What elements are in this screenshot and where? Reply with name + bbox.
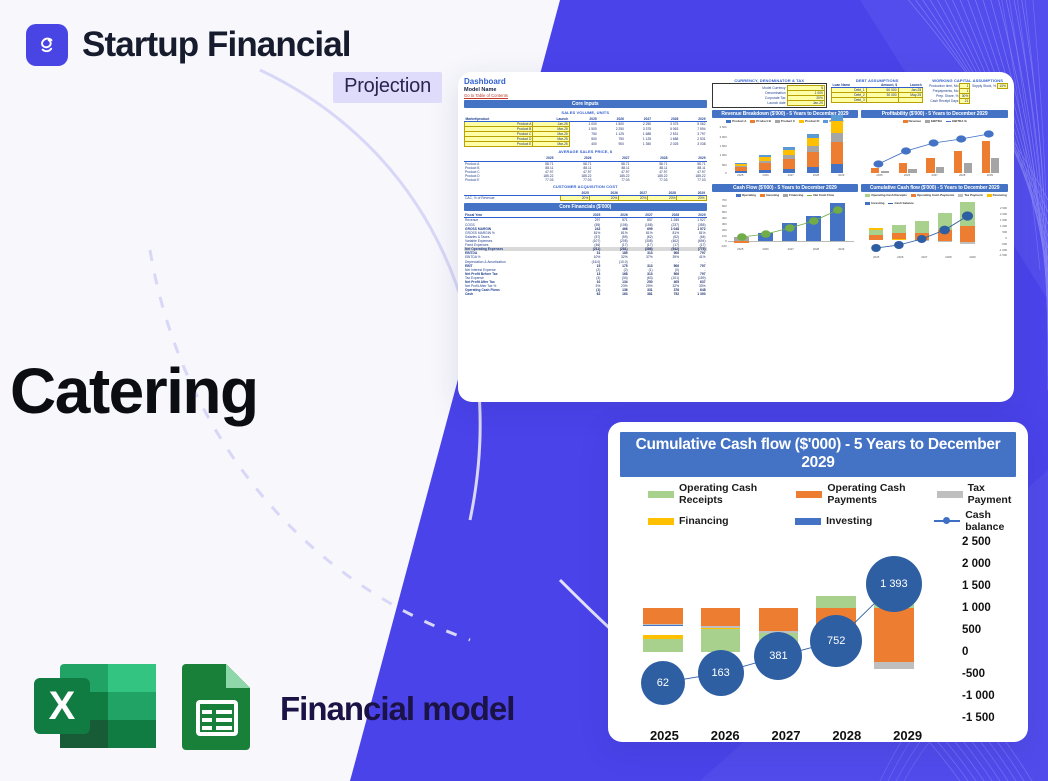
legend-label: Tax Payment (968, 482, 1014, 506)
cell[interactable]: 21 (960, 99, 970, 104)
bar (831, 115, 842, 173)
legend-label: Operating Cash Payments (827, 482, 936, 506)
x-tick: 2025 (728, 247, 753, 256)
x-tick: 2027 (912, 255, 936, 264)
table-row: CAC, % of Revenue 20% 20% 20% 20% 20% (464, 196, 706, 201)
page-title: Startup Financial (82, 27, 351, 64)
chart-title: Profitability ($'000) - 5 Years to Decem… (861, 110, 1008, 118)
legend-label: Revenue (909, 119, 922, 123)
cash-balance-line (864, 206, 984, 255)
microsoft-excel-icon: X (32, 660, 160, 757)
cell[interactable]: Debt_3 (831, 98, 866, 103)
legend-row: Operating Cash Receipts Operating Cash P… (648, 482, 1014, 506)
legend-label: Financing (679, 515, 729, 527)
cell: 77.03 (554, 178, 592, 182)
y-tick: 2 500 (962, 536, 991, 548)
chart-title: Cumulative Cash flow ($'000) - 5 Years t… (861, 184, 1008, 192)
legend-label: Product D (805, 119, 819, 123)
cell: Product E (464, 178, 516, 182)
legend-item: Investing (865, 201, 884, 205)
legend-label: Financing (993, 193, 1007, 197)
chart-canvas: 2 500 2 000 1 500 1 000 500 0 -500 -1 00… (861, 206, 1008, 264)
legend-label: Investing (871, 201, 884, 205)
bar (982, 141, 990, 173)
legend-item: Operating (736, 193, 756, 197)
y-tick: -500 (962, 668, 985, 680)
category-title: Catering (10, 354, 258, 428)
y-tick: 300 (722, 222, 727, 226)
plot (728, 124, 854, 173)
legend-item: Tax Payment (958, 193, 982, 197)
swirl-e-logo-icon (26, 24, 68, 66)
bar (991, 158, 999, 173)
cell[interactable]: Jan-25 (787, 101, 824, 106)
y-tick: 600 (722, 204, 727, 208)
y-tick: 100 (722, 234, 727, 238)
legend-item: Investing (760, 193, 779, 197)
svg-text:X: X (49, 684, 76, 728)
cell: 3 038 (679, 142, 706, 147)
avg-price-table: 2025 2026 2027 2028 2029 Product A 58.71… (464, 156, 707, 182)
legend-label: Product A (732, 119, 746, 123)
x-tick: 2029 (829, 247, 854, 256)
dashboard-heading-block: Dashboard Model Name Go to Table of Cont… (464, 78, 707, 98)
y-tick: 0 (962, 646, 968, 658)
sheets-glyph (180, 660, 254, 752)
x-tick: 2028 (803, 173, 828, 182)
table-row: Production time, Mo 1 Supply Stock, % 10… (927, 84, 1007, 89)
plot (728, 198, 854, 247)
assumption-panels: CURRENCY, DENOMINATOR & TAX Model Curren… (712, 78, 1008, 108)
cell: 900 (598, 142, 625, 147)
x-axis: 2025 2026 2027 2028 2029 (866, 173, 1004, 182)
dashboard-right-column: CURRENCY, DENOMINATOR & TAX Model Curren… (712, 78, 1008, 396)
legend-item-operating-cash-receipts: Operating Cash Receipts (648, 482, 796, 506)
cell: Cash (464, 292, 574, 296)
legend-label: Operating Cash Payments (917, 193, 954, 197)
bar (954, 151, 962, 173)
legend-label: Product B (756, 119, 770, 123)
x-tick: 2026 (893, 173, 921, 182)
plot (864, 206, 984, 255)
cell: 1 350 (625, 142, 652, 147)
cell: 381 (629, 292, 654, 296)
cell: 163 (601, 292, 628, 296)
cell: Supply Stock, % (970, 84, 998, 89)
x-tick: 2028 (936, 255, 960, 264)
dashboard-left-column: Dashboard Model Name Go to Table of Cont… (464, 78, 707, 396)
legend-label: Operating Cash Receipts (679, 482, 796, 506)
cell: Prepayments, Mo (927, 89, 960, 94)
y-tick: -500 (1001, 242, 1007, 246)
y-tick: 500 (722, 210, 727, 214)
cac-table: 2025 2026 2027 2028 2029 CAC, % of Reven… (464, 191, 707, 201)
currency-table: Model Currency $ Denomination 1 000 Corp… (714, 85, 825, 106)
core-financials-table: Fiscal Year 2025 2026 2027 2028 2029 Rev… (464, 213, 707, 296)
google-sheets-icon (180, 660, 254, 757)
net-cash-flow-line (728, 198, 854, 247)
cumulative-cash-flow-mini-chart[interactable]: Cumulative Cash flow ($'000) - 5 Years t… (861, 184, 1008, 264)
brand-row: Startup Financial (26, 24, 446, 66)
chart-canvas: 2025 2026 2027 2028 2029 (861, 124, 1008, 182)
legend-item: Net Cash Flow (807, 193, 834, 197)
y-tick: 2 500 (1000, 206, 1007, 210)
x-axis: 2025 2026 2027 2028 2029 (634, 720, 938, 742)
chart-legend: Operating Cash Receipts Operating Cash P… (861, 192, 1008, 206)
data-node-2028[interactable]: 752 (810, 615, 862, 667)
table-row: Cash Receipt Days 21 (927, 99, 1007, 104)
y-tick: 0 (725, 239, 727, 243)
brand-header: Startup Financial Projection (26, 24, 446, 103)
legend-label: Cash balance (965, 509, 1014, 533)
legend-label: Investing (766, 193, 779, 197)
x-tick: 2027 (921, 173, 949, 182)
sales-volume-table: Market/product Launch 2025 2026 2027 202… (464, 117, 707, 148)
chart-plot-area: 62 163 381 752 1 393 2 500 2 000 1 500 1… (620, 542, 1016, 742)
cell: 752 (654, 292, 680, 296)
data-node-2027[interactable]: 381 (754, 632, 802, 680)
x-tick: 2026 (695, 728, 756, 743)
x-tick: 2029 (960, 255, 984, 264)
chart-title: Cash Flow ($'000) - 5 Years to December … (712, 184, 859, 192)
cell: 2 025 (652, 142, 679, 147)
legend-item: Product A (726, 119, 746, 123)
chart-canvas: 700 600 500 400 300 200 100 0 -100 (712, 198, 859, 256)
legend-item: EBITDA % (946, 119, 967, 123)
bar (964, 163, 972, 173)
x-tick: 2027 (778, 247, 803, 256)
x-axis: 2025 2026 2027 2028 2029 (728, 247, 854, 256)
x-tick: 2025 (728, 173, 753, 182)
legend-item: Product C (775, 119, 795, 123)
cell: Cash Receipt Days (927, 99, 960, 104)
y-tick: 1 000 (962, 602, 991, 614)
y-tick: 2 000 (962, 558, 991, 570)
legend-item: Revenue (903, 119, 922, 123)
table-row: Debt_3 (831, 98, 922, 103)
mini-charts-row-1: Revenue Breakdown ($'000) - 5 Years to D… (712, 110, 1008, 182)
profitability-chart[interactable]: Profitability ($'000) - 5 Years to Decem… (861, 110, 1008, 182)
y-tick: 1 500 (720, 144, 727, 148)
cell: 20% (677, 196, 706, 201)
cell: Product E (465, 142, 533, 147)
cash-flow-chart[interactable]: Cash Flow ($'000) - 5 Years to December … (712, 184, 859, 264)
cell: 77.03 (516, 178, 554, 182)
table-row: Product E 77.03 77.03 77.03 77.03 77.03 (464, 178, 707, 182)
y-tick: 1 000 (720, 153, 727, 157)
y-tick: 200 (722, 228, 727, 232)
cell: 20% (561, 196, 590, 201)
cell: Launch date (714, 101, 788, 106)
x-tick: 2026 (888, 255, 912, 264)
legend-label: EBITDA (931, 119, 942, 123)
legend-item: Operating Cash Payments (911, 193, 954, 197)
legend-item-financing: Financing (648, 509, 795, 533)
legend-row: Financing Investing Cash balance (648, 509, 1014, 533)
cell: 77.03 (592, 178, 630, 182)
y-axis: 700 600 500 400 300 200 100 0 -100 (712, 198, 728, 247)
y-tick: 2 000 (1000, 212, 1007, 216)
chart-canvas: 2 500 2 000 1 500 1 000 500 0 (712, 124, 859, 182)
x-tick: 2029 (829, 173, 854, 182)
legend-label: Operating Cash Receipts (871, 193, 907, 197)
table-row: Launch date Jan-25 (714, 101, 825, 106)
cell: 1 393 (680, 292, 706, 296)
legend-item: Product B (750, 119, 770, 123)
y-tick: 400 (722, 216, 727, 220)
legend-item: Financing (783, 193, 803, 197)
legend-label: Product C (781, 119, 795, 123)
x-tick: 2025 (864, 255, 888, 264)
data-node-2025[interactable]: 62 (641, 661, 685, 705)
debt-panel: DEBT ASSUMPTIONS Loan Name Amount, $ Lau… (831, 78, 923, 103)
x-tick: 2025 (866, 173, 894, 182)
x-tick: 2025 (634, 728, 695, 743)
core-inputs-band: Core Inputs (464, 100, 707, 108)
cell: 400 (569, 142, 598, 147)
y-tick: 1 500 (962, 580, 991, 592)
currency-box: Model Currency $ Denomination 1 000 Corp… (712, 83, 827, 108)
legend-item-operating-cash-payments: Operating Cash Payments (796, 482, 936, 506)
y-axis: 2 500 2 000 1 500 1 000 500 0 -500 -1 00… (940, 542, 1012, 718)
x-axis: 2025 2026 2027 2028 2029 (864, 255, 984, 264)
brand-subtitle-wrap: Projection (26, 72, 446, 103)
bar (783, 147, 794, 173)
sales-volume-caption: SALES VOLUME, UNITS (464, 110, 707, 115)
legend-label: Operating (742, 193, 756, 197)
y-tick: 2 500 (720, 125, 727, 129)
plot: 62 163 381 752 1 393 (634, 542, 938, 718)
format-badges: X Financial model (32, 660, 514, 757)
legend-label: Net Cash Flow (813, 193, 834, 197)
x-tick: 2026 (753, 173, 778, 182)
cell: 20% (590, 196, 619, 201)
format-label: Financial model (280, 690, 514, 728)
cell: Mar-25 (533, 142, 569, 147)
legend-label: Investing (826, 515, 872, 527)
core-financials-band: Core Financials ($'000) (464, 203, 707, 211)
chart-title: Cumulative Cash flow ($'000) - 5 Years t… (620, 432, 1016, 477)
y-tick: -100 (721, 244, 727, 248)
legend-label: Financing (789, 193, 803, 197)
legend-item: EBITDA (925, 119, 942, 123)
cell: Production time, Mo (927, 84, 960, 89)
dashboard-heading: Dashboard (464, 78, 707, 87)
table-row: Cash621633817521 393 (464, 292, 707, 296)
plot (866, 124, 1004, 173)
x-tick: 2027 (778, 173, 803, 182)
revenue-breakdown-chart[interactable]: Revenue Breakdown ($'000) - 5 Years to D… (712, 110, 859, 182)
legend-item: Product D (799, 119, 819, 123)
cell: CAC, % of Revenue (464, 196, 561, 201)
legend-label: Cash balance (894, 201, 913, 205)
cumulative-cash-flow-card[interactable]: Cumulative Cash flow ($'000) - 5 Years t… (608, 422, 1028, 742)
chart-legend: Operating Cash Receipts Operating Cash P… (620, 477, 1016, 538)
legend-item-investing: Investing (795, 509, 934, 533)
bar (759, 155, 770, 173)
y-tick: -1 000 (962, 690, 995, 702)
excel-glyph: X (32, 660, 160, 752)
x-axis: 2025 2026 2027 2028 2029 (728, 173, 854, 182)
y-tick: 2 000 (720, 135, 727, 139)
brand-subtitle-badge: Projection (333, 72, 442, 103)
y-tick: 500 (962, 624, 981, 636)
legend-label: EBITDA % (952, 119, 967, 123)
bar (735, 163, 746, 174)
x-tick: 2026 (753, 247, 778, 256)
y-tick: -1 000 (999, 248, 1007, 252)
cell[interactable] (898, 98, 923, 103)
x-tick: 2027 (756, 728, 817, 743)
cell: 77.03 (630, 178, 668, 182)
x-tick: 2028 (948, 173, 976, 182)
y-tick: 700 (722, 198, 727, 202)
y-tick: 500 (1002, 230, 1007, 234)
cell: 20% (648, 196, 677, 201)
cell: 62 (574, 292, 601, 296)
dashboard-preview-card[interactable]: Dashboard Model Name Go to Table of Cont… (458, 72, 1014, 402)
y-tick: -1 500 (962, 712, 995, 724)
cell: 77.03 (668, 178, 706, 182)
y-axis: 2 500 2 000 1 500 1 000 500 0 -500 -1 00… (987, 206, 1008, 255)
y-tick: 500 (722, 163, 727, 167)
table-row: Product E Mar-25 400 900 1 350 2 025 3 0… (465, 142, 707, 147)
data-node-2026[interactable]: 163 (698, 650, 744, 696)
x-tick: 2029 (877, 728, 938, 743)
x-tick: 2028 (816, 728, 877, 743)
dashboard-sheet: Dashboard Model Name Go to Table of Cont… (464, 78, 1008, 396)
cell[interactable] (866, 98, 898, 103)
cell: 20% (619, 196, 648, 201)
avg-price-caption: AVERAGE SALES PRICE, $ (464, 149, 707, 154)
cac-caption: CUSTOMER ACQUISITION COST (464, 184, 707, 189)
currency-panel: CURRENCY, DENOMINATOR & TAX Model Curren… (712, 78, 827, 108)
wc-caption: WORKING CAPITAL ASSUMPTIONS (927, 78, 1008, 83)
mini-charts-row-2: Cash Flow ($'000) - 5 Years to December … (712, 184, 1008, 264)
working-capital-table: Production time, Mo 1 Supply Stock, % 10… (927, 83, 1008, 104)
legend-item-tax-payment: Tax Payment (937, 482, 1014, 506)
working-capital-panel: WORKING CAPITAL ASSUMPTIONS Production t… (927, 78, 1008, 104)
bar (926, 158, 934, 173)
legend-item: Cash balance (888, 201, 913, 205)
y-tick: 0 (725, 171, 727, 175)
y-tick: -1 500 (999, 253, 1007, 257)
x-tick: 2028 (803, 247, 828, 256)
legend-label: Tax Payment (964, 193, 982, 197)
y-tick: 0 (1005, 236, 1007, 240)
legend-item-cash-balance: Cash balance (934, 509, 1014, 533)
legend-item: Operating Cash Receipts (865, 193, 907, 197)
x-tick: 2029 (976, 173, 1004, 182)
y-axis: 2 500 2 000 1 500 1 000 500 0 (712, 124, 728, 173)
toc-link[interactable]: Go to Table of Contents (464, 93, 707, 98)
debt-table: Loan Name Amount, $ Launch Debt_1 60 000… (831, 83, 923, 103)
y-tick: 1 000 (1000, 224, 1007, 228)
data-node-2029[interactable]: 1 393 (866, 556, 922, 612)
y-tick: 1 500 (1000, 218, 1007, 222)
logo-glyph (34, 32, 60, 58)
bar (807, 134, 818, 173)
bar (899, 163, 907, 173)
legend-item: Financing (987, 193, 1007, 197)
